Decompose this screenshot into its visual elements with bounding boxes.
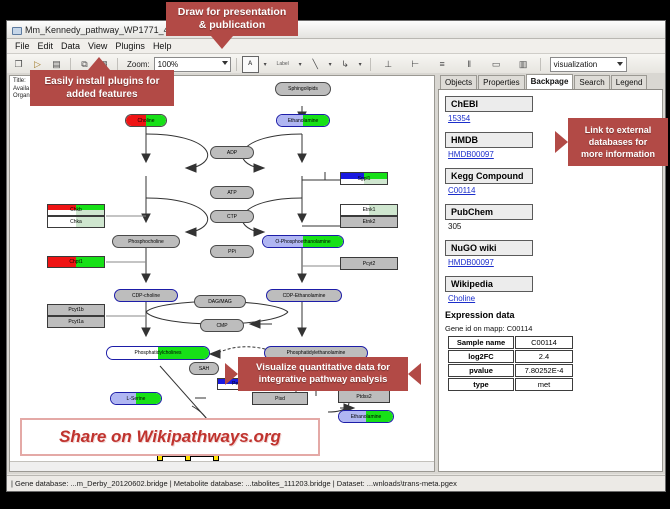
node-sah[interactable]: SAH [189, 362, 219, 375]
row-val-type: met [515, 378, 573, 391]
node-cdp-choline[interactable]: CDP-choline [114, 289, 178, 302]
node-sphingolipids[interactable]: Sphingolipids [275, 82, 331, 96]
row-key-type: type [448, 378, 514, 391]
label-tool-dropdown-icon[interactable]: ▾ [296, 56, 305, 73]
table-row: pvalue 7.80252E-4 [448, 364, 573, 377]
node-choline-top-label: Choline [138, 118, 155, 124]
node-ppi[interactable]: PPi [210, 245, 254, 258]
node-chkb[interactable]: Chkb [47, 204, 105, 216]
callout-visualize-arrow-left [225, 363, 238, 385]
section-header-wikipedia: Wikipedia [445, 276, 533, 292]
row-key-pvalue: pvalue [448, 364, 514, 377]
stack-button[interactable]: ▥ [515, 56, 532, 73]
node-pcyt2[interactable]: Pcyt2 [340, 257, 398, 270]
distribute-horizontal-button[interactable]: ‖ [461, 56, 478, 73]
node-cdp-ethanolamine[interactable]: CDP-Ethanolamine [266, 289, 342, 302]
section-header-pubchem: PubChem [445, 204, 533, 220]
section-header-hmdb: HMDB [445, 132, 533, 148]
line-tool-dropdown-icon[interactable]: ▾ [326, 56, 335, 73]
chevron-down-icon [617, 62, 623, 66]
menu-item-file[interactable]: File [11, 41, 34, 51]
pathvisio-icon [11, 25, 21, 35]
interaction-tool-dropdown-icon[interactable]: ▾ [356, 56, 365, 73]
toolbar-separator-5 [540, 58, 541, 71]
node-pisd[interactable]: Pisd [252, 392, 308, 405]
menu-item-view[interactable]: View [84, 41, 111, 51]
node-etnk2[interactable]: Etnk2 [340, 216, 398, 228]
row-val-log2fc: 2.4 [515, 350, 573, 363]
visualization-value: visualization [554, 60, 598, 69]
zoom-value: 100% [158, 60, 178, 69]
node-dag-mag[interactable]: DAG/MAG [194, 295, 246, 308]
node-chka-label: Chka [70, 219, 82, 225]
status-bar: | Gene database: ...m_Derby_20120602.bri… [7, 475, 665, 491]
toolbar-separator-3 [236, 58, 237, 71]
row-val-sample-name: C00114 [515, 336, 573, 349]
node-pcyt1b[interactable]: Pcyt1b [47, 304, 105, 316]
node-sgpl1[interactable]: Sgpl1 [340, 172, 388, 185]
node-ethanolamine-right-label: Ethanolamine [351, 414, 382, 420]
expression-data-title: Expression data [445, 310, 656, 320]
node-etnk1[interactable]: Etnk1 [340, 204, 398, 216]
node-ethanolamine-label: Ethanolamine [288, 118, 319, 124]
link-kegg-compound[interactable]: C00114 [448, 186, 656, 195]
node-adp[interactable]: ADP [210, 146, 254, 159]
menu-item-plugins[interactable]: Plugins [111, 41, 149, 51]
callout-draw-for-presentation: Draw for presentation & publication [166, 2, 298, 36]
align-left-button[interactable]: ⊢ [407, 56, 424, 73]
node-ptdss2[interactable]: Ptdss2 [338, 390, 390, 403]
node-cmp[interactable]: CMP [200, 319, 244, 332]
label-tool-button[interactable]: Label [272, 56, 294, 73]
new-file-button[interactable]: ❐ [10, 56, 27, 73]
node-sgpl1-label: Sgpl1 [358, 176, 371, 182]
node-phosphocholine[interactable]: Phosphocholine [112, 235, 180, 248]
node-etnk1-label: Etnk1 [363, 207, 376, 213]
status-bar-text: | Gene database: ...m_Derby_20120602.bri… [11, 479, 457, 488]
callout-visualize-arrow-right [408, 363, 421, 385]
menu-item-data[interactable]: Data [57, 41, 84, 51]
section-header-nugo-wiki: NuGO wiki [445, 240, 533, 256]
menu-item-help[interactable]: Help [149, 41, 176, 51]
line-tool-button[interactable]: ╲ [307, 56, 324, 73]
node-pcyt1a[interactable]: Pcyt1a [47, 316, 105, 328]
node-ctp[interactable]: CTP [210, 210, 254, 223]
toolbar-separator-2 [117, 58, 118, 71]
node-chkb-label: Chkb [70, 207, 82, 213]
link-wikipedia[interactable]: Choline [448, 294, 656, 303]
callout-link-external-databases: Link to external databases for more info… [568, 118, 668, 166]
distribute-vertical-button[interactable]: ≡ [434, 56, 451, 73]
node-ethanolamine-right[interactable]: Ethanolamine [338, 410, 394, 423]
side-panel-tabs: Objects Properties Backpage Search Legen… [438, 75, 663, 90]
callout-draw-arrow [211, 36, 233, 49]
tab-legend[interactable]: Legend [611, 75, 648, 89]
row-val-pvalue: 7.80252E-4 [515, 364, 573, 377]
align-top-button[interactable]: ⊥ [380, 56, 397, 73]
callout-visualize-quantitative-data: Visualize quantitative data for integrat… [238, 357, 408, 391]
row-key-sample-name: Sample name [448, 336, 514, 349]
table-row: type met [448, 378, 573, 391]
table-row: log2FC 2.4 [448, 350, 573, 363]
chevron-down-icon [222, 61, 228, 65]
section-header-chebi: ChEBI [445, 96, 533, 112]
node-pc-label: Phosphatidylcholines [135, 350, 182, 356]
node-ethanolamine[interactable]: Ethanolamine [276, 114, 330, 127]
expression-data-table: Sample name C00114 log2FC 2.4 pvalue 7.8… [447, 335, 574, 392]
node-atp[interactable]: ATP [210, 186, 254, 199]
visualization-select[interactable]: visualization [550, 57, 627, 72]
tab-backpage[interactable]: Backpage [526, 74, 574, 89]
section-header-kegg: Kegg Compound [445, 168, 533, 184]
callout-links-arrow [555, 131, 568, 153]
node-l-serine-left[interactable]: L-Serine [110, 392, 162, 405]
toolbar-separator-4 [370, 58, 371, 71]
node-phosphatidylcholines[interactable]: Phosphatidylcholines [106, 346, 210, 360]
node-chpt1-label: Chpt1 [69, 259, 82, 265]
same-width-button[interactable]: ▭ [488, 56, 505, 73]
title-bar: Mm_Kennedy_pathway_WP1771_45176.gpml [7, 21, 665, 39]
table-row: Sample name C00114 [448, 336, 573, 349]
callout-plugins-arrow [88, 57, 110, 70]
tab-objects[interactable]: Objects [440, 75, 477, 89]
tab-search[interactable]: Search [574, 75, 609, 89]
gene-id-on-mapp: Gene id on mapp: C00114 [445, 324, 656, 333]
node-choline-top[interactable]: Choline [125, 114, 167, 127]
callout-share-on-wikipathways: Share on Wikipathways.org [20, 418, 320, 456]
node-ope-label: O-Phosphoethanolamine [275, 239, 330, 245]
link-nugo-wiki[interactable]: HMDB00097 [448, 258, 656, 267]
value-pubchem: 305 [448, 222, 656, 231]
pathway-canvas[interactable]: Title: Availa Organ [9, 75, 435, 472]
tab-properties[interactable]: Properties [478, 75, 524, 89]
canvas-horizontal-scrollbar[interactable] [10, 461, 434, 471]
node-chpt1[interactable]: Chpt1 [47, 256, 105, 268]
toolbar-separator-1 [70, 58, 71, 71]
node-l-serine-left-label: L-Serine [127, 396, 146, 402]
interaction-tool-button[interactable]: ↳ [337, 56, 354, 73]
menu-bar: File Edit Data View Plugins Help [7, 39, 665, 54]
row-key-log2fc: log2FC [448, 350, 514, 363]
node-chka[interactable]: Chka [47, 216, 105, 228]
zoom-label: Zoom: [127, 60, 150, 69]
menu-item-edit[interactable]: Edit [34, 41, 58, 51]
text-label-dropdown-icon[interactable]: ▾ [261, 56, 270, 73]
callout-easily-install-plugins: Easily install plugins for added feature… [30, 70, 174, 106]
text-label-button[interactable]: A [242, 56, 259, 73]
node-o-phosphoethanolamine[interactable]: O-Phosphoethanolamine [262, 235, 344, 248]
